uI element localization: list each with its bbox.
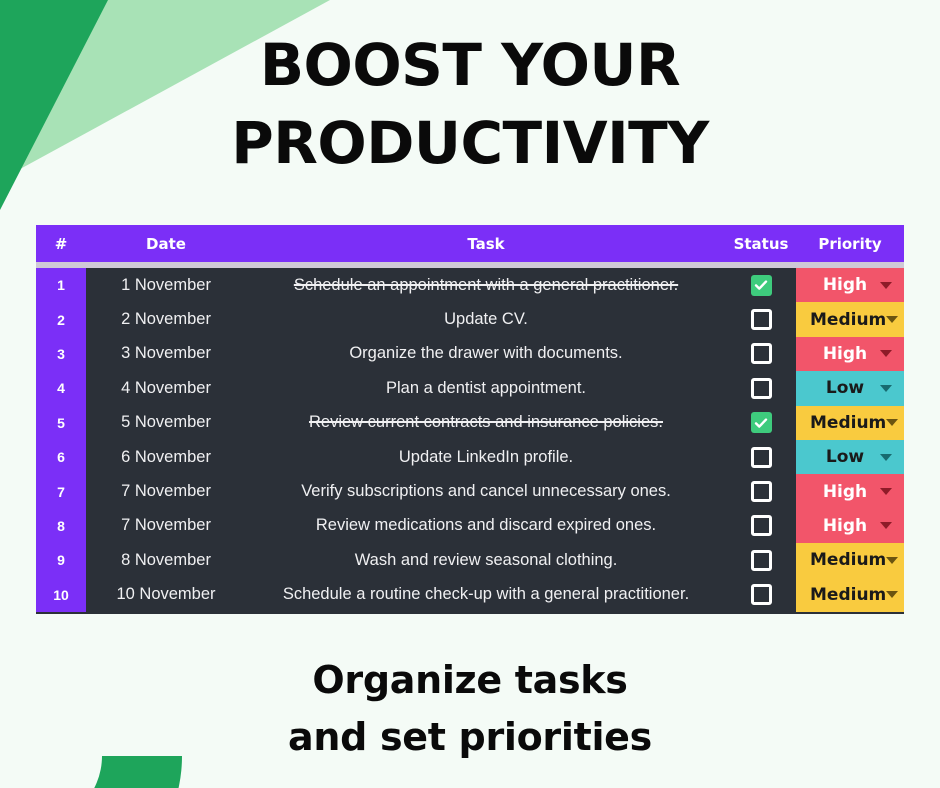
row-status-cell <box>726 406 796 440</box>
table-row: 87 NovemberReview medications and discar… <box>36 509 904 543</box>
empty-checkbox-icon[interactable] <box>751 309 772 330</box>
row-status-cell <box>726 371 796 405</box>
row-status-cell <box>726 302 796 336</box>
row-status-cell <box>726 578 796 612</box>
table-row: 98 NovemberWash and review seasonal clot… <box>36 543 904 577</box>
row-task-text[interactable]: Review current contracts and insurance p… <box>246 406 726 440</box>
chevron-down-icon[interactable] <box>880 282 892 289</box>
check-icon[interactable] <box>751 275 772 296</box>
row-date[interactable]: 8 November <box>86 543 246 577</box>
chevron-down-icon[interactable] <box>886 316 898 323</box>
priority-label: Low <box>810 447 880 467</box>
headline-line-1: BOOST YOUR <box>0 26 940 104</box>
priority-select[interactable]: Medium <box>796 406 904 440</box>
row-number: 3 <box>36 337 86 371</box>
priority-label: High <box>810 516 880 536</box>
row-status-cell <box>726 509 796 543</box>
row-number: 4 <box>36 371 86 405</box>
row-date[interactable]: 10 November <box>86 578 246 612</box>
column-header-task[interactable]: Task <box>246 235 726 253</box>
poster-canvas: BOOST YOUR PRODUCTIVITY # Date Task Stat… <box>0 0 940 788</box>
caption: Organize tasks and set priorities <box>0 652 940 766</box>
row-date[interactable]: 1 November <box>86 268 246 302</box>
row-status-cell <box>726 543 796 577</box>
row-number: 9 <box>36 543 86 577</box>
priority-label: High <box>810 482 880 502</box>
chevron-down-icon[interactable] <box>880 454 892 461</box>
row-status-cell <box>726 440 796 474</box>
priority-label: Medium <box>810 550 886 570</box>
row-date[interactable]: 3 November <box>86 337 246 371</box>
row-number: 2 <box>36 302 86 336</box>
empty-checkbox-icon[interactable] <box>751 378 772 399</box>
row-task-text[interactable]: Plan a dentist appointment. <box>246 371 726 405</box>
caption-line-1: Organize tasks <box>0 652 940 709</box>
priority-label: High <box>810 275 880 295</box>
priority-select[interactable]: Medium <box>796 543 904 577</box>
row-task-text[interactable]: Update CV. <box>246 302 726 336</box>
priority-select[interactable]: High <box>796 337 904 371</box>
row-number: 7 <box>36 474 86 508</box>
column-header-priority[interactable]: Priority <box>796 235 904 253</box>
row-task-text[interactable]: Review medications and discard expired o… <box>246 509 726 543</box>
row-date[interactable]: 2 November <box>86 302 246 336</box>
chevron-down-icon[interactable] <box>886 557 898 564</box>
empty-checkbox-icon[interactable] <box>751 584 772 605</box>
table-row: 11 NovemberSchedule an appointment with … <box>36 268 904 302</box>
empty-checkbox-icon[interactable] <box>751 515 772 536</box>
row-status-cell <box>726 337 796 371</box>
column-header-status[interactable]: Status <box>726 235 796 253</box>
chevron-down-icon[interactable] <box>886 419 898 426</box>
row-status-cell <box>726 474 796 508</box>
row-date[interactable]: 5 November <box>86 406 246 440</box>
table-header-row: # Date Task Status Priority <box>36 225 904 262</box>
priority-select[interactable]: Medium <box>796 578 904 612</box>
table-row: 1010 NovemberSchedule a routine check-up… <box>36 578 904 612</box>
check-icon[interactable] <box>751 412 772 433</box>
priority-label: High <box>810 344 880 364</box>
row-number: 8 <box>36 509 86 543</box>
table-row: 55 NovemberReview current contracts and … <box>36 406 904 440</box>
row-date[interactable]: 7 November <box>86 509 246 543</box>
chevron-down-icon[interactable] <box>886 591 898 598</box>
priority-select[interactable]: Medium <box>796 302 904 336</box>
row-task-text[interactable]: Update LinkedIn profile. <box>246 440 726 474</box>
table-row: 33 NovemberOrganize the drawer with docu… <box>36 337 904 371</box>
column-header-date[interactable]: Date <box>86 235 246 253</box>
priority-select[interactable]: High <box>796 268 904 302</box>
table-row: 22 NovemberUpdate CV.Medium <box>36 302 904 336</box>
priority-label: Medium <box>810 585 886 605</box>
table-row: 66 NovemberUpdate LinkedIn profile.Low <box>36 440 904 474</box>
row-task-text[interactable]: Verify subscriptions and cancel unnecess… <box>246 474 726 508</box>
priority-select[interactable]: High <box>796 509 904 543</box>
empty-checkbox-icon[interactable] <box>751 550 772 571</box>
chevron-down-icon[interactable] <box>880 385 892 392</box>
row-status-cell <box>726 268 796 302</box>
row-date[interactable]: 7 November <box>86 474 246 508</box>
priority-label: Medium <box>810 413 886 433</box>
row-task-text[interactable]: Schedule a routine check-up with a gener… <box>246 578 726 612</box>
row-number: 10 <box>36 578 86 612</box>
row-task-text[interactable]: Schedule an appointment with a general p… <box>246 268 726 302</box>
chevron-down-icon[interactable] <box>880 522 892 529</box>
priority-select[interactable]: High <box>796 474 904 508</box>
chevron-down-icon[interactable] <box>880 488 892 495</box>
chevron-down-icon[interactable] <box>880 350 892 357</box>
page-title: BOOST YOUR PRODUCTIVITY <box>0 26 940 182</box>
row-number: 1 <box>36 268 86 302</box>
column-header-number[interactable]: # <box>36 235 86 253</box>
headline-line-2: PRODUCTIVITY <box>0 104 940 182</box>
row-date[interactable]: 6 November <box>86 440 246 474</box>
row-task-text[interactable]: Organize the drawer with documents. <box>246 337 726 371</box>
row-number: 6 <box>36 440 86 474</box>
empty-checkbox-icon[interactable] <box>751 343 772 364</box>
priority-select[interactable]: Low <box>796 371 904 405</box>
table-body: 11 NovemberSchedule an appointment with … <box>36 268 904 614</box>
priority-label: Low <box>810 378 880 398</box>
table-row: 77 NovemberVerify subscriptions and canc… <box>36 474 904 508</box>
priority-label: Medium <box>810 310 886 330</box>
task-table: # Date Task Status Priority 11 NovemberS… <box>36 225 904 614</box>
row-task-text[interactable]: Wash and review seasonal clothing. <box>246 543 726 577</box>
empty-checkbox-icon[interactable] <box>751 481 772 502</box>
row-date[interactable]: 4 November <box>86 371 246 405</box>
table-row: 44 NovemberPlan a dentist appointment.Lo… <box>36 371 904 405</box>
caption-line-2: and set priorities <box>0 709 940 766</box>
empty-checkbox-icon[interactable] <box>751 447 772 468</box>
row-number: 5 <box>36 406 86 440</box>
priority-select[interactable]: Low <box>796 440 904 474</box>
